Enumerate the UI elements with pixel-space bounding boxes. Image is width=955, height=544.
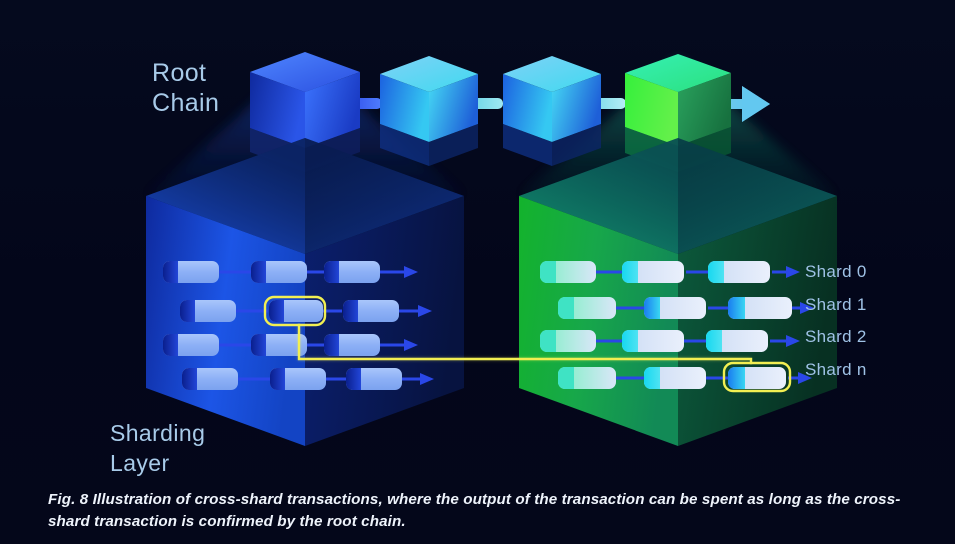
diagram-canvas: Root Chain Sharding Layer Shard 0Shard 1… — [0, 0, 955, 544]
shard-label-3: Shard n — [805, 360, 867, 380]
sharding-layer-label-line1: Sharding — [110, 418, 205, 448]
shard-label-1: Shard 1 — [805, 295, 867, 315]
root-block-2 — [503, 56, 601, 166]
right-shard-row-0 — [540, 261, 800, 283]
left-highlighted-block — [269, 300, 323, 322]
right-shard-prism — [519, 138, 837, 446]
right-highlighted-block — [728, 367, 786, 389]
right-shard-row-3 — [558, 367, 812, 389]
root-block-1 — [380, 56, 478, 166]
figure-caption: Fig. 8 Illustration of cross-shard trans… — [48, 489, 913, 532]
left-shard-row-3 — [182, 368, 434, 390]
shard-label-0: Shard 0 — [805, 262, 867, 282]
left-shard-row-1 — [180, 300, 432, 322]
root-chain-label-line1: Root — [152, 58, 219, 88]
right-shard-row-2 — [540, 330, 800, 352]
sharding-layer-label-line2: Layer — [110, 448, 205, 478]
right-shard-row-1 — [558, 297, 814, 319]
root-chain-label: Root Chain — [152, 58, 219, 118]
root-chain-label-line2: Chain — [152, 88, 219, 118]
sharding-layer-label: Sharding Layer — [110, 418, 205, 478]
shard-label-2: Shard 2 — [805, 327, 867, 347]
